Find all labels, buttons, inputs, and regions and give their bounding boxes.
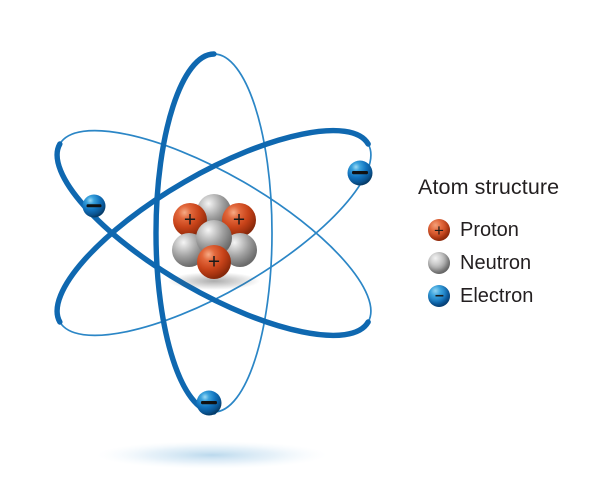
electron-icon: – (428, 285, 450, 307)
legend-item-neutron: Neutron (428, 247, 602, 280)
electron-minus-glyph (352, 171, 368, 174)
ground-shadow (97, 441, 327, 469)
nucleon-proton-bottom: + (197, 245, 231, 279)
proton-plus-glyph: + (233, 209, 245, 232)
proton-icon: + (428, 219, 450, 241)
neutron-icon (428, 252, 450, 274)
legend-item-proton: + Proton (428, 214, 602, 247)
proton-plus-glyph: + (184, 209, 196, 232)
legend-label-electron: Electron (460, 286, 533, 306)
neutron-glyph (428, 252, 450, 274)
legend-label-neutron: Neutron (460, 253, 531, 273)
nucleus: + + (168, 194, 260, 290)
electron-minus-glyph (201, 401, 217, 404)
proton-plus-glyph: + (428, 219, 450, 241)
electron-right (348, 161, 373, 186)
legend-panel: Atom structure + Proton Neutron – Electr… (416, 176, 602, 313)
legend-title: Atom structure (418, 176, 602, 200)
proton-plus-glyph: + (208, 251, 220, 274)
legend-item-electron: – Electron (428, 280, 602, 313)
illustration-canvas: + + (0, 0, 602, 501)
legend-label-proton: Proton (460, 220, 519, 240)
electron-minus-glyph: – (428, 285, 450, 307)
atom-structure-illustration: + + (0, 0, 420, 501)
electron-bottom (197, 391, 222, 416)
atom-diagram-svg: + + (0, 0, 420, 501)
electron-minus-glyph (87, 204, 102, 207)
electron-left (83, 195, 106, 218)
